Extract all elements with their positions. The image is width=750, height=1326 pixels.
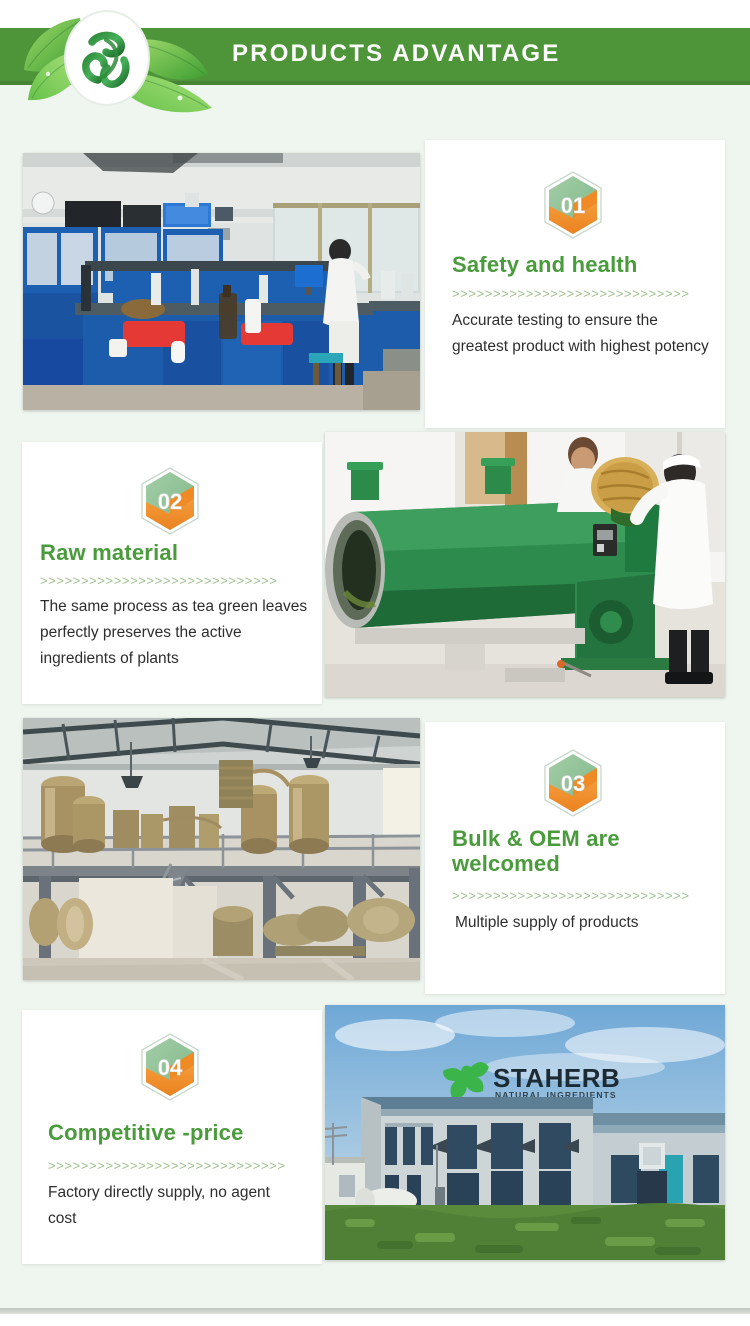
badge-number: 02 (158, 489, 182, 514)
advantage-row-2: 02 Raw material >>>>>>>>>>>>>>>>>>>>>>>>… (0, 432, 750, 710)
badge-02-icon: 02 (139, 466, 201, 536)
advantage-row-3: 03 Bulk & OEM are welcomed >>>>>>>>>>>>>… (0, 708, 750, 998)
card-divider-2: >>>>>>>>>>>>>>>>>>>>>>>>>>>>> (40, 573, 278, 588)
staherb-leaf-logo (22, 0, 232, 118)
advantage-card-3: 03 Bulk & OEM are welcomed >>>>>>>>>>>>>… (425, 722, 725, 994)
badge-04-icon: 04 (139, 1032, 201, 1102)
page-bottom-spacer (0, 1314, 750, 1326)
page-header: PRODUCTS ADVANTAGE (0, 0, 750, 118)
tea-roasting-machine-photo (325, 432, 725, 697)
advantage-row-4: 04 Competitive -price >>>>>>>>>>>>>>>>>>… (0, 1000, 750, 1270)
advantage-card-2: 02 Raw material >>>>>>>>>>>>>>>>>>>>>>>>… (22, 442, 322, 704)
card-title-2: Raw material (40, 540, 310, 565)
badge-01-icon: 01 (542, 170, 604, 240)
card-body-1: Accurate testing to ensure the greatest … (452, 308, 714, 360)
laboratory-testing-photo (23, 153, 420, 410)
page-title: PRODUCTS ADVANTAGE (232, 40, 561, 68)
products-advantage-page: PRODUCTS ADVANTAGE (0, 0, 750, 1326)
advantage-row-1: 01 Safety and health >>>>>>>>>>>>>>>>>>>… (0, 140, 750, 430)
badge-number: 04 (158, 1055, 183, 1080)
badge-number: 03 (561, 771, 585, 796)
extraction-workshop-photo (23, 718, 420, 980)
card-title-3: Bulk & OEM are welcomed (452, 826, 674, 876)
card-divider-1: >>>>>>>>>>>>>>>>>>>>>>>>>>>>> (452, 286, 690, 301)
advantage-card-1: 01 Safety and health >>>>>>>>>>>>>>>>>>>… (425, 140, 725, 428)
card-title-1: Safety and health (452, 252, 712, 277)
card-title-4: Competitive -price (48, 1120, 318, 1145)
advantage-card-4: 04 Competitive -price >>>>>>>>>>>>>>>>>>… (22, 1010, 322, 1264)
badge-03-icon: 03 (542, 748, 604, 818)
svg-text:STAHERB: STAHERB (493, 1063, 620, 1093)
factory-building-photo: STAHERB NATURAL INGREDIENTS (325, 1005, 725, 1260)
badge-number: 01 (561, 193, 585, 218)
card-body-3: Multiple supply of products (455, 910, 717, 936)
card-divider-3: >>>>>>>>>>>>>>>>>>>>>>>>>>>>> (452, 888, 690, 903)
card-body-2: The same process as tea green leaves per… (40, 594, 318, 672)
card-divider-4: >>>>>>>>>>>>>>>>>>>>>>>>>>>>> (48, 1158, 286, 1173)
card-body-4: Factory directly supply, no agent cost (48, 1180, 298, 1232)
